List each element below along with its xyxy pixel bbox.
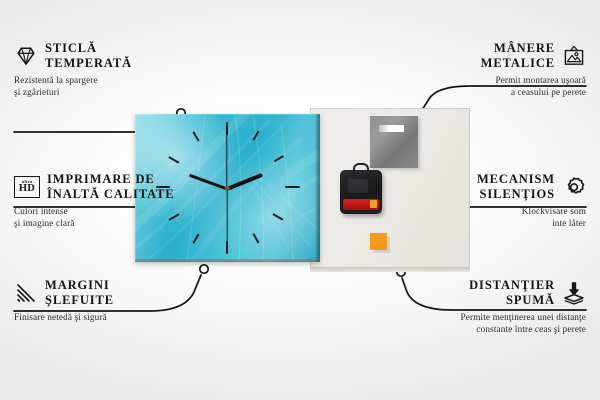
- tick-6: [226, 241, 228, 254]
- clock-hand-second: [226, 189, 227, 243]
- feature-head: MARGINIŞLEFUITE: [14, 278, 189, 309]
- gear-icon: [562, 175, 586, 199]
- feature-description: Finisare netedă şi sigură: [14, 312, 189, 324]
- feature-title: MARGINIŞLEFUITE: [45, 278, 114, 309]
- feature-mecanism-silentios: MECANISMSILENŢIOS Klockvisare sominte lå…: [396, 172, 586, 230]
- polished-edge-icon: [14, 281, 38, 305]
- feature-description: Klockvisare sominte låter: [396, 206, 586, 230]
- clock-mechanism: [340, 170, 382, 214]
- ultra-hd-icon: ultra HD: [14, 176, 40, 198]
- feature-head: DISTANŢIERSPUMĂ: [376, 278, 586, 309]
- feature-imprimare-hd: ultra HD IMPRIMARE DEÎNALTĂ CALITATE Cul…: [14, 172, 189, 230]
- picture-hanger-icon: [562, 44, 586, 68]
- clock-center-hub: [225, 186, 230, 191]
- feature-head: ultra HD IMPRIMARE DEÎNALTĂ CALITATE: [14, 172, 189, 203]
- feature-description: Rezistentă la spargereşi zgârieturi: [14, 75, 179, 99]
- feature-title: STICLĂTEMPERATĂ: [45, 41, 132, 72]
- feature-distantier-spuma: DISTANŢIERSPUMĂ Permite menţinerea unei …: [376, 278, 586, 336]
- product-infographic: STICLĂTEMPERATĂ Rezistentă la spargereşi…: [0, 0, 600, 400]
- feature-head: MÂNEREMETALICE: [391, 41, 586, 72]
- clock-right-edge: [315, 114, 320, 262]
- clock-bottom-edge: [135, 259, 320, 262]
- mechanism-hanger-loop: [353, 163, 369, 175]
- hanger-plate-slot: [379, 125, 404, 132]
- feature-description: Permit montarea uşoarăa ceasului pe pere…: [391, 75, 586, 99]
- feature-title: DISTANŢIERSPUMĂ: [469, 278, 555, 309]
- feature-description: Culori intenseşi imagine clară: [14, 206, 189, 230]
- feature-head: MECANISMSILENŢIOS: [396, 172, 586, 203]
- mechanism-battery: [343, 199, 379, 210]
- foam-spacer: [370, 233, 387, 250]
- feature-sticla-temperata: STICLĂTEMPERATĂ Rezistentă la spargereşi…: [14, 41, 179, 99]
- metal-hanger-plate: [370, 116, 418, 168]
- feature-description: Permite menţinerea unei distanţeconstant…: [376, 312, 586, 336]
- ultra-hd-large-label: HD: [19, 184, 35, 195]
- feature-title: MECANISMSILENŢIOS: [477, 172, 555, 203]
- feature-manere-metalice: MÂNEREMETALICE Permit montarea uşoarăa c…: [391, 41, 586, 99]
- press-down-layers-icon: [562, 281, 586, 305]
- feature-title: MÂNEREMETALICE: [481, 41, 555, 72]
- feature-margini-slefuite: MARGINIŞLEFUITE Finisare netedă şi sigur…: [14, 278, 189, 324]
- feature-title: IMPRIMARE DEÎNALTĂ CALITATE: [47, 172, 175, 203]
- mechanism-housing: [348, 179, 368, 193]
- feature-head: STICLĂTEMPERATĂ: [14, 41, 179, 72]
- diamond-icon: [14, 44, 38, 68]
